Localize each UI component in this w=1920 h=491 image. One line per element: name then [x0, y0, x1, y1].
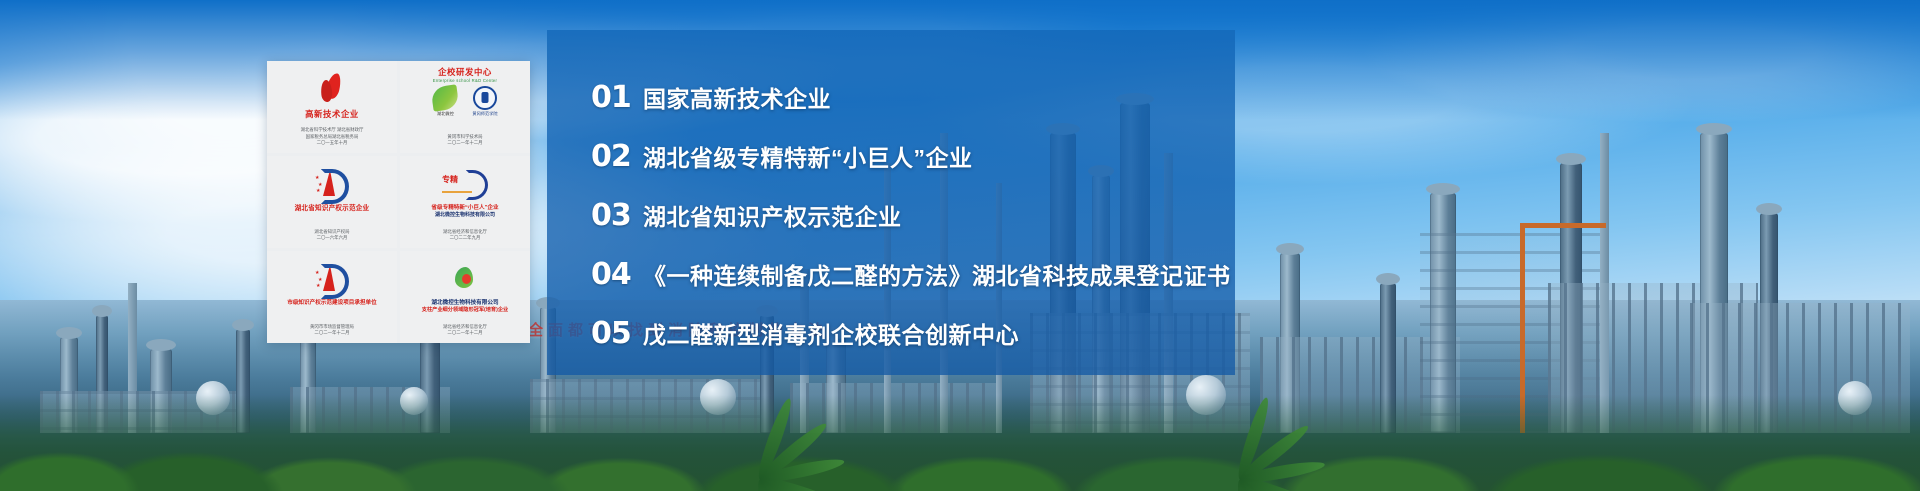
certificate-issuer: 黄冈市市场监督管理局 二〇二一年十二月: [310, 324, 354, 339]
certificate-card[interactable]: 湖北微控生物科技有限公司 支柱产业细分领域隐形冠军(培育)企业 湖北省经济和信息…: [400, 251, 530, 343]
issuer-line: 湖北省科学技术厅 湖北省财政厅: [301, 127, 364, 134]
list-item-number: 02: [591, 139, 643, 174]
green-drop-icon: [453, 258, 477, 298]
partner-logos: 湖北微控 黄冈师范学院: [432, 86, 497, 117]
certificate-issuer: 湖北省知识产权局 二〇一六年六月: [314, 229, 349, 244]
certificate-title: 湖北微控生物科技有限公司: [431, 300, 498, 306]
list-item[interactable]: 01 国家高新技术企业: [591, 80, 1231, 115]
ip-sail-icon: ★ ★ ★: [315, 258, 349, 298]
leaf-icon: [431, 85, 460, 112]
certificate-card[interactable]: ★ ★ ★ 市级知识产权示范建设项目承担单位 黄冈市市场监督管理局 二〇二一年十…: [267, 251, 397, 343]
issuer-line: 二〇二二年九月: [443, 235, 487, 242]
vegetation-strip: [0, 395, 1920, 491]
list-item-number: 01: [591, 80, 643, 115]
list-item-number: 05: [591, 316, 643, 351]
list-item-label: 湖北省级专精特新“小巨人”企业: [643, 145, 973, 172]
certificate-company: 湖北微控生物科技有限公司: [435, 212, 495, 219]
zhuanjingtexin-ribbon-icon: 专精: [442, 163, 488, 203]
certificate-card[interactable]: 企校研发中心 Enterprise school R&D Center 湖北微控…: [400, 61, 530, 153]
certificate-title: 市级知识产权示范建设项目承担单位: [287, 300, 377, 306]
certificate-title: 省级专精特新“小巨人”企业: [431, 205, 498, 211]
list-item[interactable]: 03 湖北省知识产权示范企业: [591, 198, 1231, 233]
list-item-label: 戊二醛新型消毒剂企校联合创新中心: [643, 322, 1019, 349]
issuer-line: 二〇二一年十二月: [447, 140, 482, 147]
list-item-label: 湖北省知识产权示范企业: [643, 204, 902, 231]
certificate-title: 湖北省知识产权示范企业: [295, 205, 370, 212]
list-item[interactable]: 04 《一种连续制备戊二醛的方法》湖北省科技成果登记证书: [591, 257, 1231, 292]
certificate-grid: 高新技术企业 湖北省科学技术厅 湖北省财政厅 国家税务总局湖北省税务局 二〇一五…: [267, 61, 530, 343]
list-item-number: 04: [591, 257, 643, 292]
honor-list: 01 国家高新技术企业 02 湖北省级专精特新“小巨人”企业 03 湖北省知识产…: [591, 80, 1231, 351]
list-item[interactable]: 05 戊二醛新型消毒剂企校联合创新中心: [591, 316, 1231, 351]
issuer-line: 二〇一五年十月: [301, 140, 364, 147]
university-seal-icon: [473, 86, 497, 110]
partner-name: 湖北微控: [437, 111, 454, 117]
flame-icon: [319, 68, 345, 108]
certificate-title: 高新技术企业: [305, 110, 359, 119]
list-item-label: 国家高新技术企业: [643, 86, 831, 113]
certificate-card[interactable]: 高新技术企业 湖北省科学技术厅 湖北省财政厅 国家税务总局湖北省税务局 二〇一五…: [267, 61, 397, 153]
certificate-card[interactable]: 专精 省级专精特新“小巨人”企业 湖北微控生物科技有限公司 湖北省经济和信息化厅…: [400, 156, 530, 248]
partner-name: 黄冈师范学院: [472, 111, 497, 117]
certificate-issuer: 湖北省经济和信息化厅 二〇二一年十二月: [443, 324, 487, 339]
certificate-card[interactable]: ★ ★ ★ 湖北省知识产权示范企业 湖北省知识产权局 二〇一六年六月: [267, 156, 397, 248]
certificate-issuer: 湖北省经济和信息化厅 二〇二二年九月: [443, 229, 487, 244]
ip-sail-icon: ★ ★ ★: [315, 163, 349, 203]
issuer-line: 二〇一六年六月: [314, 235, 349, 242]
list-item-number: 03: [591, 198, 643, 233]
issuer-line: 二〇二一年十二月: [443, 330, 487, 337]
certificate-subtitle-en: Enterprise school R&D Center: [433, 78, 498, 83]
certificate-issuer: 黄冈市科学技术局 二〇二一年十二月: [447, 134, 482, 149]
certificate-title: 企校研发中心: [438, 68, 492, 77]
issuer-line: 二〇二一年十二月: [310, 330, 354, 337]
certificate-subtitle: 支柱产业细分领域隐形冠军(培育)企业: [422, 307, 508, 315]
list-item[interactable]: 02 湖北省级专精特新“小巨人”企业: [591, 139, 1231, 174]
certificate-issuer: 湖北省科学技术厅 湖北省财政厅 国家税务总局湖北省税务局 二〇一五年十月: [301, 127, 364, 149]
banner-stage: 全面都可以找到消除和控制的方法 高新技术企业 湖北省科学技术厅 湖北省财政厅 国…: [0, 0, 1920, 491]
list-item-label: 《一种连续制备戊二醛的方法》湖北省科技成果登记证书: [643, 263, 1231, 290]
